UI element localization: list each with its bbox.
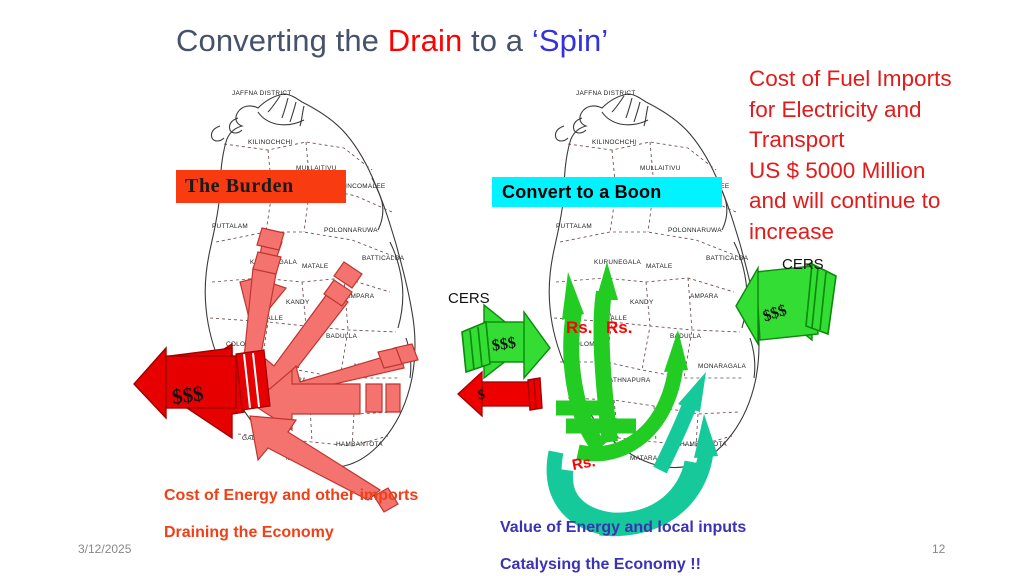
map-label-matara: MATARA: [286, 455, 314, 462]
cers-label-right: CERS: [782, 256, 824, 273]
caption-value-of-energy: Value of Energy and local inputs: [500, 519, 746, 537]
cers-label-left: CERS: [448, 290, 490, 307]
slide-date: 3/12/2025: [78, 542, 131, 556]
banner-the-burden-label: The Burden: [185, 175, 294, 198]
caption-catalysing-economy: Catalysing the Economy !!: [500, 556, 701, 574]
map-label-matale: MATALE: [302, 263, 328, 270]
caption-draining-economy: Draining the Economy: [164, 524, 334, 542]
map-label-badulla: BADULLA: [326, 333, 358, 340]
svg-text:KALUTARA: KALUTARA: [572, 403, 608, 410]
map-label-monaragala: MONARAGALA: [354, 363, 403, 370]
svg-text:HAMBANTOTA: HAMBANTOTA: [680, 441, 727, 448]
map-sri-lanka-right: JAFFNA DISTRICT KILINOCHCHI MULLAITIVU A…: [520, 82, 800, 552]
svg-text:KANDY: KANDY: [630, 299, 654, 306]
svg-text:MONARAGALA: MONARAGALA: [698, 363, 747, 370]
svg-text:MATARA: MATARA: [630, 455, 658, 462]
svg-text:MATALE: MATALE: [646, 263, 672, 270]
svg-text:POLONNARUWA: POLONNARUWA: [668, 227, 722, 234]
svg-text:RATHNAPURA: RATHNAPURA: [604, 377, 651, 384]
page-title: Converting the Drain to a ‘Spin’: [176, 24, 608, 58]
svg-text:PUTTALAM: PUTTALAM: [556, 223, 592, 230]
map-label-jaffna: JAFFNA DISTRICT: [232, 90, 292, 97]
slide-canvas: Converting the Drain to a ‘Spin’ Cost of…: [0, 0, 1024, 576]
map-label-kurunegala: KURUNEGALA: [250, 259, 297, 266]
money-label-big-red: $$$: [171, 381, 205, 410]
svg-text:KURUNEGALA: KURUNEGALA: [594, 259, 641, 266]
money-label-green-left: $$$: [491, 334, 517, 355]
svg-text:BATTICALOA: BATTICALOA: [706, 255, 749, 262]
map-label-ampara: AMPARA: [346, 293, 375, 300]
svg-text:BADULLA: BADULLA: [670, 333, 702, 340]
rs-label-1: Rs.: [566, 318, 592, 338]
svg-text:GALLE: GALLE: [586, 435, 608, 442]
svg-text:COLOMBO: COLOMBO: [570, 341, 605, 348]
map-label-puttalam: PUTTALAM: [212, 223, 248, 230]
map-label-kalutara: KALUTARA: [228, 403, 264, 410]
title-part-2: to a: [462, 23, 532, 58]
map-label-kilinochchi: KILINOCHCHI: [248, 139, 293, 146]
map-label-batticaloa: BATTICALOA: [362, 255, 405, 262]
map-label-hambantota: HAMBANTOTA: [336, 441, 383, 448]
map-sri-lanka-left: JAFFNA DISTRICT KILINOCHCHI MULLAITIVU A…: [176, 82, 456, 502]
svg-text:JAFFNA DISTRICT: JAFFNA DISTRICT: [576, 90, 636, 97]
money-label-small-red: $: [477, 388, 486, 405]
title-word-spin: ‘Spin’: [532, 23, 608, 58]
svg-text:MULLAITIVU: MULLAITIVU: [640, 165, 681, 172]
banner-convert-to-boon: Convert to a Boon: [492, 177, 722, 207]
map-label-colombo: COLOMBO: [226, 341, 261, 348]
banner-convert-to-boon-label: Convert to a Boon: [502, 182, 661, 203]
title-part-1: Converting the: [176, 23, 388, 58]
slide-page-number: 12: [932, 542, 945, 556]
svg-text:AMPARA: AMPARA: [690, 293, 719, 300]
banner-the-burden: The Burden: [176, 170, 346, 203]
caption-cost-of-energy: Cost of Energy and other imports: [164, 487, 418, 505]
map-label-polonnaruwa: POLONNARUWA: [324, 227, 378, 234]
title-word-drain: Drain: [388, 23, 463, 58]
svg-text:KILINOCHCHI: KILINOCHCHI: [592, 139, 637, 146]
map-label-kandy: KANDY: [286, 299, 310, 306]
rs-label-2: Rs.: [606, 318, 632, 338]
map-label-galle: GALLE: [242, 435, 264, 442]
map-label-kegalle: KEGALLE: [252, 315, 283, 322]
map-label-rathnapura: RATHNAPURA: [260, 377, 307, 384]
